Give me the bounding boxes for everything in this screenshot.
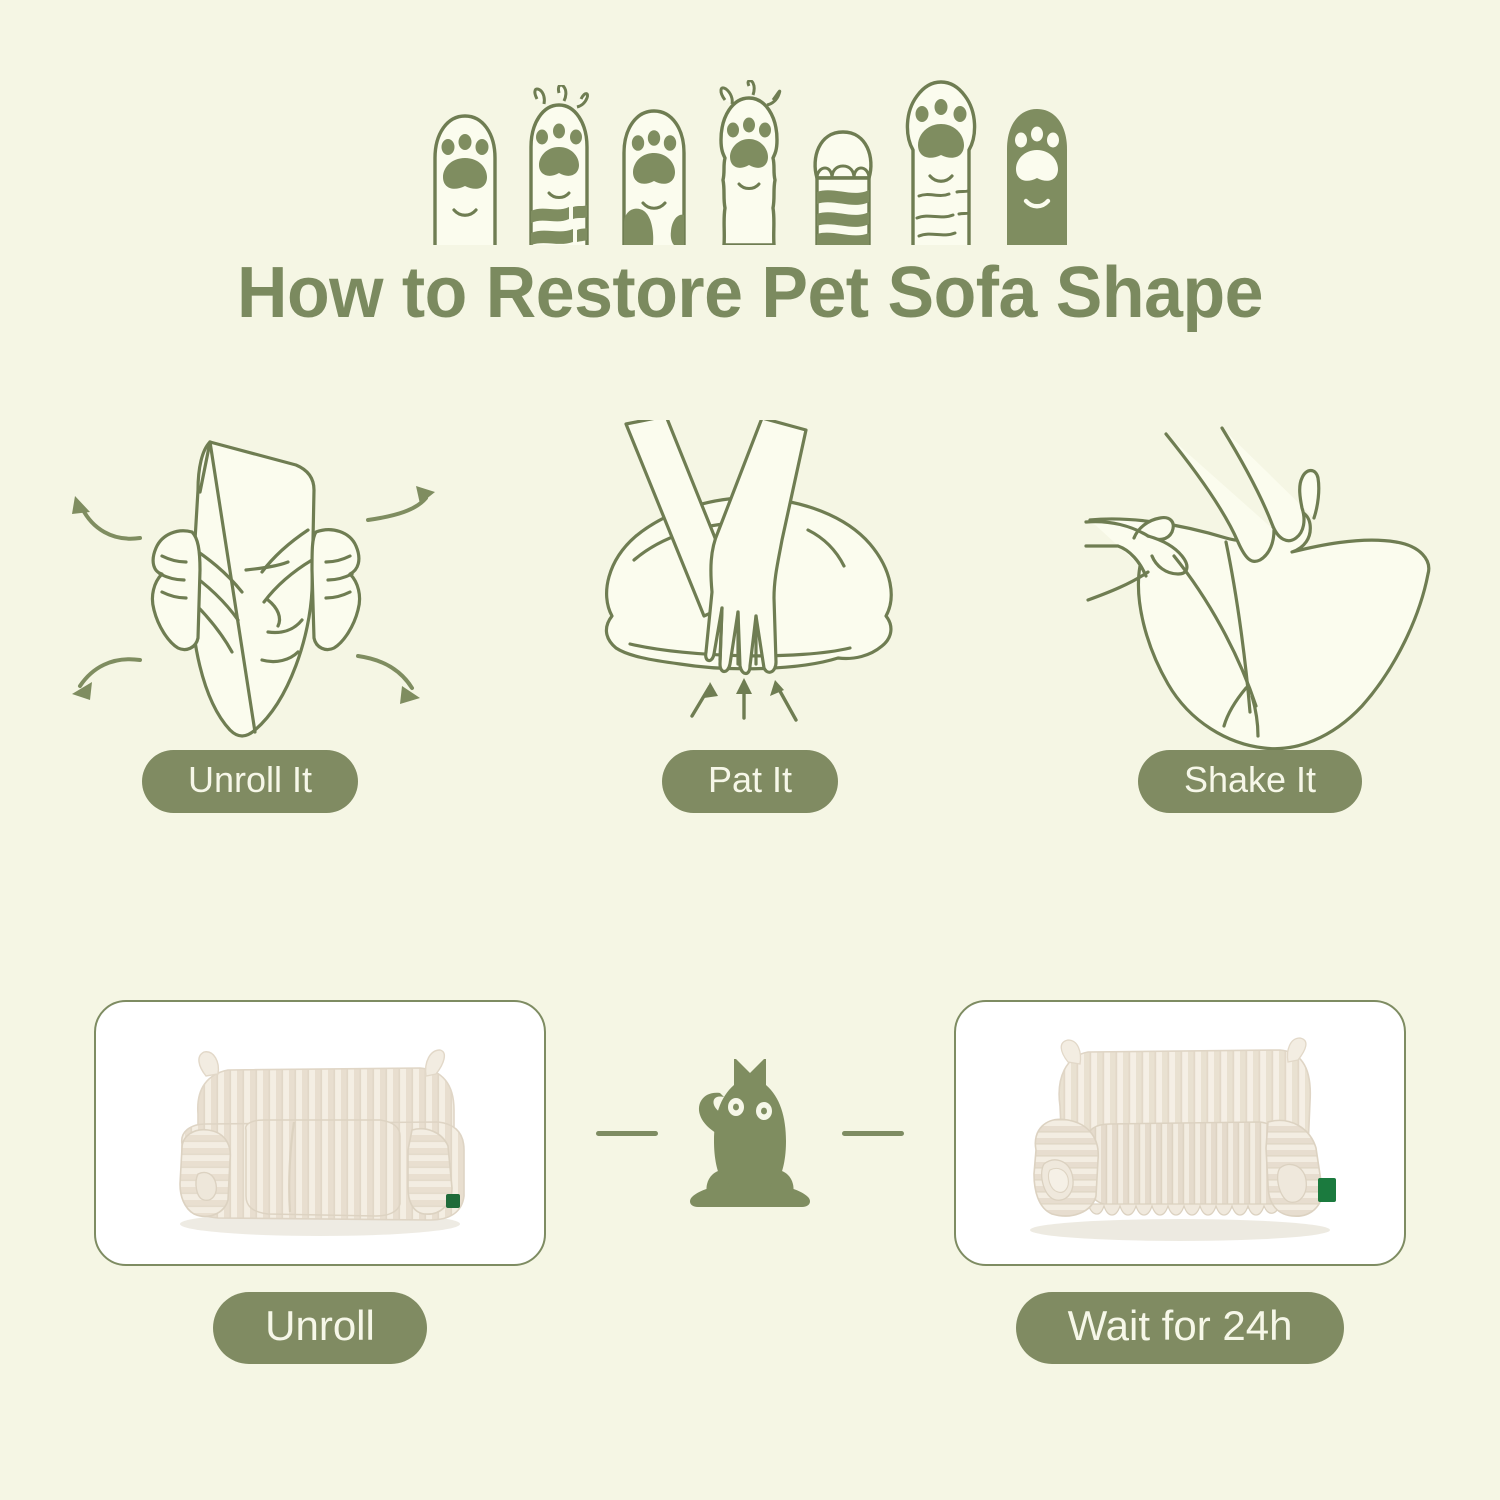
after-label-wait-24h: Wait for 24h — [1016, 1292, 1345, 1364]
comparison-divider — [550, 1000, 950, 1266]
page-title: How to Restore Pet Sofa Shape — [23, 252, 1478, 334]
comparison-before: Unroll — [90, 1000, 550, 1364]
compressed-corduroy-pet-bed-photo — [120, 1018, 520, 1248]
sitting-cat-silhouette-icon — [684, 1059, 816, 1207]
paw-icon-3 — [611, 95, 697, 245]
step-shake-it: Shake It — [1020, 420, 1480, 813]
divider-dash-left — [596, 1131, 658, 1136]
step-label-shake-it: Shake It — [1138, 750, 1362, 813]
hands-pulling-rolled-bed-outward-icon — [50, 420, 450, 750]
paw-icon-5 — [801, 100, 885, 245]
paw-icon-6 — [891, 70, 991, 245]
step-pat-it: Pat It — [520, 420, 980, 813]
comparison-after: Wait for 24h — [950, 1000, 1410, 1364]
hands-patting-bed-icon — [570, 420, 930, 750]
infographic-root: How to Restore Pet Sofa Shape — [0, 0, 1500, 1500]
after-photo-card[interactable] — [954, 1000, 1406, 1266]
comparison-row: Unroll — [0, 1000, 1500, 1420]
before-label-unroll: Unroll — [213, 1292, 427, 1364]
paw-icon-2 — [513, 85, 605, 245]
hands-shaking-bed-icon — [1060, 420, 1440, 750]
divider-dash-right — [842, 1131, 904, 1136]
step-unroll-it: Unroll It — [20, 420, 480, 813]
step-label-pat-it: Pat It — [662, 750, 838, 813]
steps-row: Unroll It — [0, 420, 1500, 880]
before-photo-card[interactable] — [94, 1000, 546, 1266]
step-label-unroll-it: Unroll It — [142, 750, 358, 813]
paw-icon-7 — [997, 97, 1077, 245]
paw-icon-4 — [703, 80, 795, 245]
paw-icon-1 — [423, 100, 507, 245]
expanded-corduroy-pet-sofa-photo — [980, 1018, 1380, 1248]
cat-paws-row-icon — [0, 60, 1500, 245]
